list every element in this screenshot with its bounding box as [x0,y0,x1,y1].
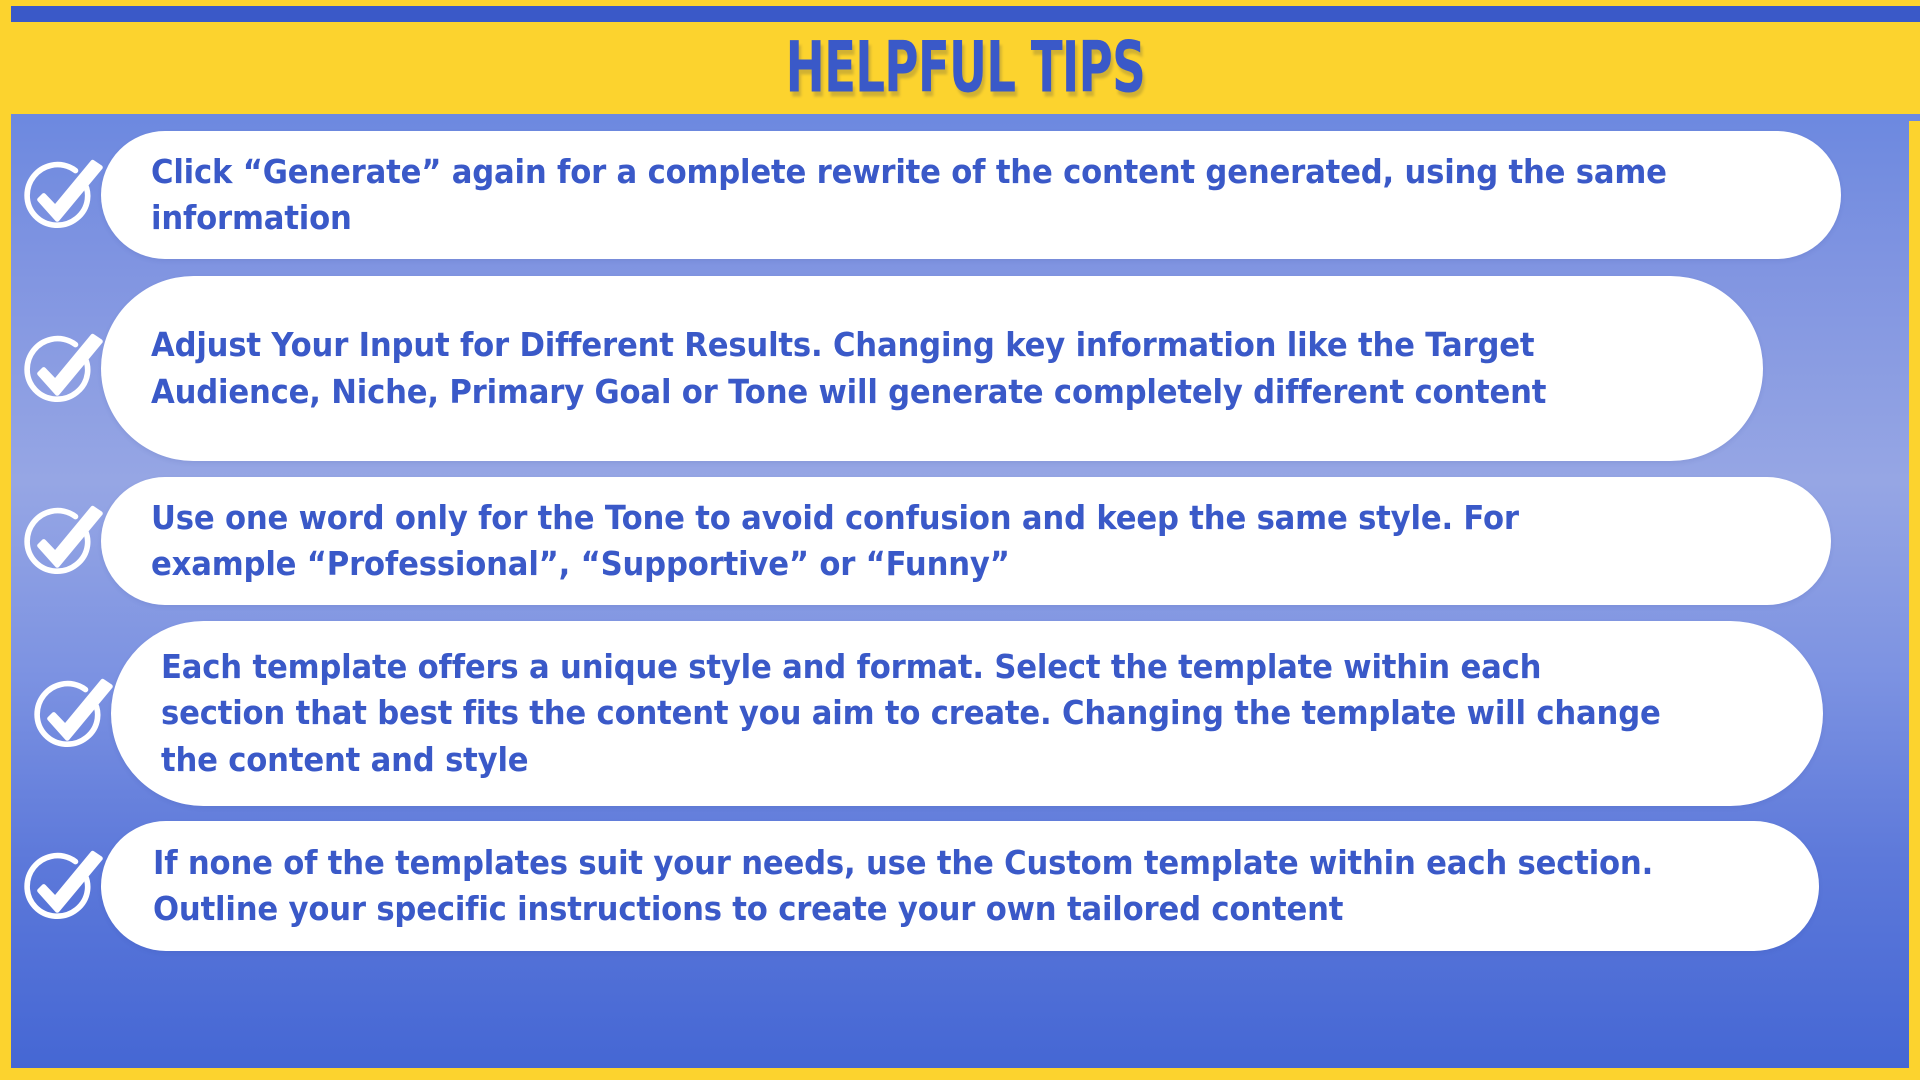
circle-check-icon [11,489,115,593]
circle-check-icon [11,834,115,938]
tip-text: Use one word only for the Tone to avoid … [151,495,1671,587]
tip-card: Adjust Your Input for Different Results.… [101,276,1763,461]
tips-list: Click “Generate” again for a complete re… [11,121,1909,1068]
tip-card: Each template offers a unique style and … [111,621,1823,806]
tip-card: Click “Generate” again for a complete re… [101,131,1841,259]
tip-card: Use one word only for the Tone to avoid … [101,477,1831,605]
poster-header: HELPFUL TIPS [11,0,1920,120]
tip-text: Each template offers a unique style and … [161,644,1664,783]
tip-card: If none of the templates suit your needs… [101,821,1819,951]
tip-row: Adjust Your Input for Different Results.… [11,276,1763,461]
header-top-accent-bar [11,6,1920,22]
header-title-band: HELPFUL TIPS [11,22,1920,114]
tip-row: Click “Generate” again for a complete re… [11,131,1841,259]
page-title: HELPFUL TIPS [786,33,1145,104]
tip-row: Use one word only for the Tone to avoid … [11,477,1831,605]
circle-check-icon [11,143,115,247]
header-divider-rule [11,114,1920,121]
tip-row: If none of the templates suit your needs… [11,821,1819,951]
tip-row: Each template offers a unique style and … [21,621,1823,806]
circle-check-icon [11,317,115,421]
tip-text: Adjust Your Input for Different Results.… [151,322,1607,414]
helpful-tips-poster: HELPFUL TIPS Click “Generate” again for … [0,0,1920,1080]
tip-text: If none of the templates suit your needs… [153,840,1660,932]
tip-text: Click “Generate” again for a complete re… [151,149,1680,241]
circle-check-icon [21,662,125,766]
